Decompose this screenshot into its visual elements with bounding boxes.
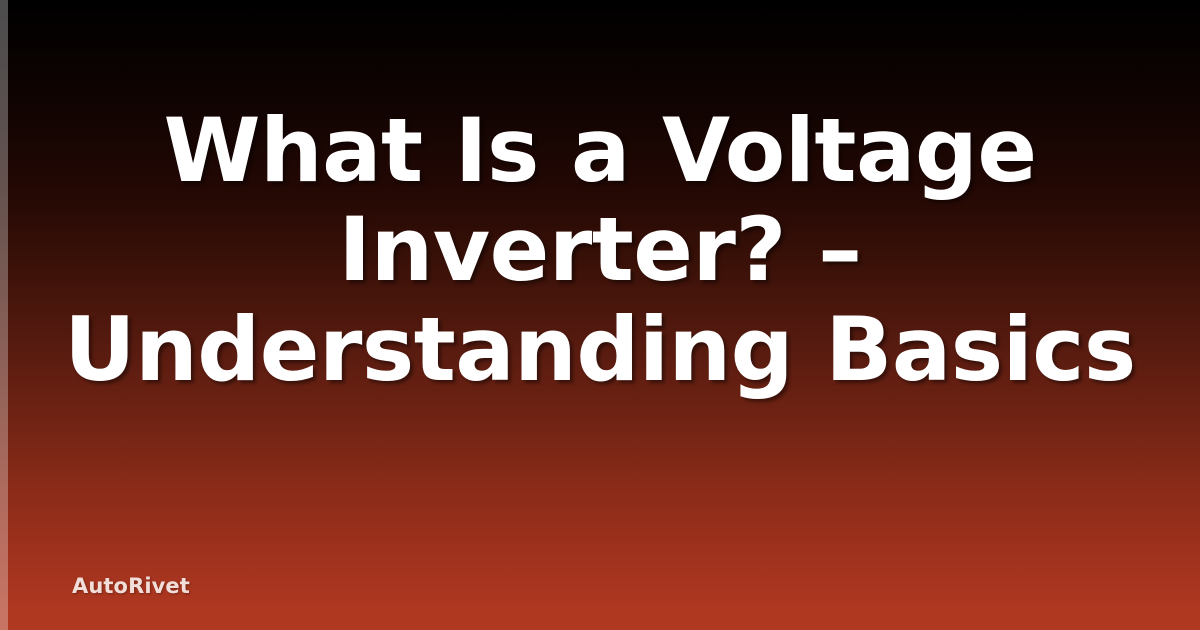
headline-container: What Is a Voltage Inverter? – Understand… xyxy=(0,0,1200,500)
brand-wordmark: AutoRivet xyxy=(72,574,190,598)
page-title: What Is a Voltage Inverter? – Understand… xyxy=(56,101,1144,399)
og-share-card: What Is a Voltage Inverter? – Understand… xyxy=(0,0,1200,630)
